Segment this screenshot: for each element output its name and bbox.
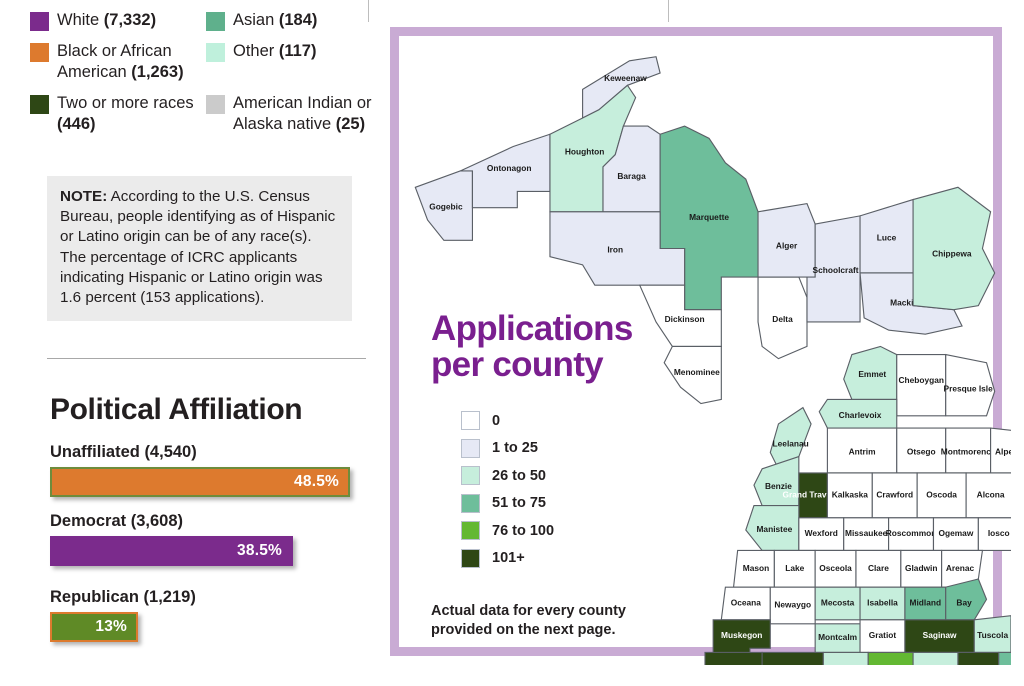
legend-label-american-indian-alaska-native: American Indian or Alaska native (25) <box>233 93 380 135</box>
legend-label-white: White (7,332) <box>57 10 156 31</box>
bar-track-republican: 13% <box>50 612 370 642</box>
swatch-asian <box>206 12 225 31</box>
section-divider <box>47 358 366 359</box>
swatch-white <box>30 12 49 31</box>
legend-item-other: Other (117) <box>206 41 380 83</box>
legend-item-black-african-american: Black or African American (1,263) <box>30 41 206 83</box>
note-text: According to the U.S. Census Bureau, peo… <box>60 188 335 306</box>
map-legend-label-2: 26 to 50 <box>492 468 546 484</box>
swatch-two-or-more-races <box>30 95 49 114</box>
county-shiawassee <box>913 652 958 665</box>
map-legend-label-3: 51 to 75 <box>492 495 546 511</box>
map-legend-swatch-2 <box>461 466 480 485</box>
map-legend-swatch-1 <box>461 439 480 458</box>
map-legend-swatch-3 <box>461 494 480 513</box>
county-ottawa <box>705 652 762 665</box>
legend-item-american-indian-alaska-native: American Indian or Alaska native (25) <box>206 93 380 135</box>
map-title-line1: Applications <box>431 311 661 347</box>
bar-percent-republican: 13% <box>95 618 136 636</box>
county-clinton <box>868 652 913 665</box>
map-legend-label-0: 0 <box>492 413 500 429</box>
race-legend: White (7,332) Asian (184) Black or Afric… <box>30 10 380 146</box>
bar-label-democrat: Democrat (3,608) <box>50 512 370 531</box>
bar-block-republican: Republican (1,219) 13% <box>50 588 370 642</box>
map-legend-row-2: 26 to 50 <box>461 466 554 485</box>
map-legend-label-5: 101+ <box>492 550 525 566</box>
legend-label-two-or-more-races: Two or more races (446) <box>57 93 206 135</box>
bar-fill-republican: 13% <box>50 612 138 642</box>
bar-block-unaffiliated: Unaffiliated (4,540) 48.5% <box>50 443 370 497</box>
bar-fill-democrat: 38.5% <box>50 536 293 566</box>
map-legend-swatch-5 <box>461 549 480 568</box>
note-label: NOTE: <box>60 188 107 205</box>
bar-percent-democrat: 38.5% <box>237 542 291 560</box>
swatch-other <box>206 43 225 62</box>
legend-item-white: White (7,332) <box>30 10 206 31</box>
political-affiliation-title: Political Affiliation <box>50 393 302 427</box>
map-panel: Gogebic Ontonagon Keweenaw Houghton Bara… <box>390 27 1002 656</box>
map-legend-row-4: 76 to 100 <box>461 521 554 540</box>
bar-fill-unaffiliated: 48.5% <box>50 467 350 497</box>
top-divider-right <box>668 0 669 22</box>
map-title-line2: per county <box>431 347 661 383</box>
legend-item-asian: Asian (184) <box>206 10 380 31</box>
swatch-american-indian-alaska-native <box>206 95 225 114</box>
map-legend-label-4: 76 to 100 <box>492 523 554 539</box>
bar-track-democrat: 38.5% <box>50 536 370 566</box>
county-ionia <box>823 652 868 665</box>
bar-label-republican: Republican (1,219) <box>50 588 370 607</box>
legend-item-two-or-more-races: Two or more races (446) <box>30 93 206 135</box>
map-legend-row-0: 0 <box>461 411 554 430</box>
map-legend: 0 1 to 25 26 to 50 51 to 75 76 to 100 10… <box>461 411 554 576</box>
lower-peninsula: Emmet Cheboygan Presque Isle Charlevoix … <box>713 346 1011 660</box>
note-box: NOTE: According to the U.S. Census Burea… <box>47 176 352 321</box>
county-lapeer <box>999 652 1011 665</box>
county-genesee <box>958 652 999 665</box>
bar-block-democrat: Democrat (3,608) 38.5% <box>50 512 370 566</box>
map-legend-label-1: 1 to 25 <box>492 440 538 456</box>
map-footnote: Actual data for every county provided on… <box>431 602 676 640</box>
bar-percent-unaffiliated: 48.5% <box>294 473 348 491</box>
map-legend-row-3: 51 to 75 <box>461 494 554 513</box>
map-legend-swatch-4 <box>461 521 480 540</box>
bar-label-unaffiliated: Unaffiliated (4,540) <box>50 443 370 462</box>
map-legend-row-5: 101+ <box>461 549 554 568</box>
legend-label-other: Other (117) <box>233 41 316 62</box>
map-legend-row-1: 1 to 25 <box>461 439 554 458</box>
swatch-black-african-american <box>30 43 49 62</box>
legend-label-asian: Asian (184) <box>233 10 317 31</box>
map-legend-swatch-0 <box>461 411 480 430</box>
legend-label-black-african-american: Black or African American (1,263) <box>57 41 206 83</box>
left-column: White (7,332) Asian (184) Black or Afric… <box>0 0 382 686</box>
map-title: Applications per county <box>431 311 661 383</box>
bar-track-unaffiliated: 48.5% <box>50 467 370 497</box>
county-kent <box>762 652 823 665</box>
